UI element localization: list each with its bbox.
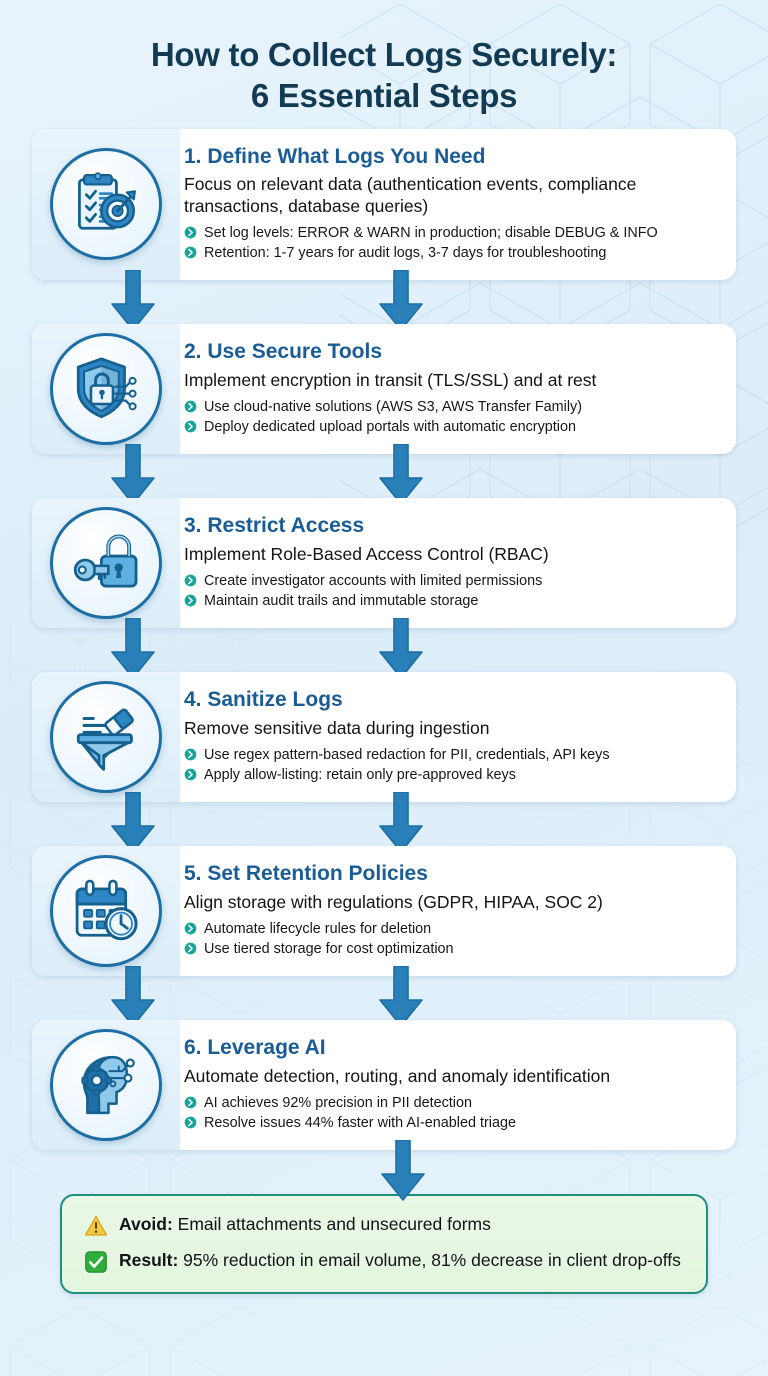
step-bullets: AI achieves 92% precision in PII detecti…: [184, 1093, 714, 1134]
step-text-container: 1. Define What Logs You Need Focus on re…: [180, 129, 736, 280]
warning-triangle-icon: [84, 1214, 108, 1238]
chevron-bullet-icon: [184, 400, 197, 413]
ai-head-gear-icon: [69, 1048, 143, 1122]
bullet-text: Retention: 1-7 years for audit logs, 3-7…: [204, 243, 606, 263]
funnel-eraser-icon: [69, 700, 143, 774]
chevron-bullet-icon: [184, 1116, 197, 1129]
clipboard-target-icon: [69, 167, 143, 241]
icon-badge: [50, 507, 162, 619]
step-icon-container: [32, 846, 180, 976]
avoid-body: Email attachments and unsecured forms: [173, 1214, 491, 1234]
page-title: How to Collect Logs Securely: 6 Essentia…: [40, 34, 728, 117]
shield-lock-circuit-icon: [69, 352, 143, 426]
calendar-clock-icon: [69, 874, 143, 948]
step-text-container: 3. Restrict Access Implement Role-Based …: [180, 498, 736, 628]
result-label: Result:: [119, 1250, 178, 1270]
step-bullets: Use cloud-native solutions (AWS S3, AWS …: [184, 397, 714, 438]
avoid-row: Avoid: Email attachments and unsecured f…: [84, 1213, 684, 1238]
key-padlock-icon: [69, 526, 143, 600]
bullet-text: Maintain audit trails and immutable stor…: [204, 591, 478, 611]
page-header: How to Collect Logs Securely: 6 Essentia…: [0, 0, 768, 129]
step-card[interactable]: 2. Use Secure Tools Implement encryption…: [32, 324, 736, 454]
step-title: 1. Define What Logs You Need: [184, 145, 714, 170]
step-connector: [32, 628, 736, 672]
icon-badge: [50, 1029, 162, 1141]
step-description: Align storage with regulations (GDPR, HI…: [184, 892, 714, 913]
checkmark-box-icon: [84, 1250, 108, 1274]
bullet-item: Create investigator accounts with limite…: [184, 571, 714, 591]
page-title-line-1: How to Collect Logs Securely:: [40, 34, 728, 75]
step-title: 3. Restrict Access: [184, 514, 714, 539]
step-icon-container: [32, 498, 180, 628]
bullet-item: Use regex pattern-based redaction for PI…: [184, 745, 714, 765]
step-icon-container: [32, 1020, 180, 1150]
avoid-label: Avoid:: [119, 1214, 173, 1234]
bullet-text: Automate lifecycle rules for deletion: [204, 919, 431, 939]
step-bullets: Use regex pattern-based redaction for PI…: [184, 745, 714, 786]
step-title: 4. Sanitize Logs: [184, 688, 714, 713]
step-bullets: Set log levels: ERROR & WARN in producti…: [184, 223, 714, 264]
step-text-container: 6. Leverage AI Automate detection, routi…: [180, 1020, 736, 1150]
chevron-bullet-icon: [184, 768, 197, 781]
step-title: 2. Use Secure Tools: [184, 340, 714, 365]
step-description: Remove sensitive data during ingestion: [184, 718, 714, 739]
step-description: Focus on relevant data (authentication e…: [184, 174, 714, 217]
chevron-bullet-icon: [184, 748, 197, 761]
icon-badge: [50, 681, 162, 793]
chevron-bullet-icon: [184, 246, 197, 259]
step-connector: [32, 454, 736, 498]
chevron-bullet-icon: [184, 922, 197, 935]
bullet-item: Use cloud-native solutions (AWS S3, AWS …: [184, 397, 714, 417]
step-card[interactable]: 6. Leverage AI Automate detection, routi…: [32, 1020, 736, 1150]
icon-badge: [50, 333, 162, 445]
step-bullets: Automate lifecycle rules for deletion Us…: [184, 919, 714, 960]
chevron-bullet-icon: [184, 574, 197, 587]
step-text-container: 2. Use Secure Tools Implement encryption…: [180, 324, 736, 454]
result-row: Result: 95% reduction in email volume, 8…: [84, 1249, 684, 1274]
step-icon-container: [32, 672, 180, 802]
step-card[interactable]: 1. Define What Logs You Need Focus on re…: [32, 129, 736, 280]
bullet-text: Resolve issues 44% faster with AI-enable…: [204, 1113, 516, 1133]
bullet-item: Use tiered storage for cost optimization: [184, 939, 714, 959]
bullet-text: Use cloud-native solutions (AWS S3, AWS …: [204, 397, 582, 417]
bullet-text: Set log levels: ERROR & WARN in producti…: [204, 223, 658, 243]
bullet-text: Deploy dedicated upload portals with aut…: [204, 417, 576, 437]
avoid-text: Avoid: Email attachments and unsecured f…: [119, 1213, 491, 1235]
step-connector: [32, 280, 736, 324]
step-text-container: 5. Set Retention Policies Align storage …: [180, 846, 736, 976]
step-connector: [32, 802, 736, 846]
bullet-item: Resolve issues 44% faster with AI-enable…: [184, 1113, 714, 1133]
chevron-bullet-icon: [184, 942, 197, 955]
step-title: 5. Set Retention Policies: [184, 862, 714, 887]
steps-list: 1. Define What Logs You Need Focus on re…: [0, 129, 768, 1194]
bullet-item: AI achieves 92% precision in PII detecti…: [184, 1093, 714, 1113]
step-title: 6. Leverage AI: [184, 1036, 714, 1061]
step-text-container: 4. Sanitize Logs Remove sensitive data d…: [180, 672, 736, 802]
footer-container: Avoid: Email attachments and unsecured f…: [0, 1194, 768, 1294]
step-connector: [32, 976, 736, 1020]
chevron-bullet-icon: [184, 594, 197, 607]
step-card[interactable]: 4. Sanitize Logs Remove sensitive data d…: [32, 672, 736, 802]
bullet-text: Use tiered storage for cost optimization: [204, 939, 454, 959]
bullet-text: Create investigator accounts with limite…: [204, 571, 542, 591]
step-description: Implement Role-Based Access Control (RBA…: [184, 544, 714, 565]
result-text: Result: 95% reduction in email volume, 8…: [119, 1249, 681, 1271]
icon-badge: [50, 148, 162, 260]
page-title-line-2: 6 Essential Steps: [40, 75, 728, 116]
step-description: Implement encryption in transit (TLS/SSL…: [184, 370, 714, 391]
summary-box: Avoid: Email attachments and unsecured f…: [60, 1194, 708, 1294]
step-card[interactable]: 3. Restrict Access Implement Role-Based …: [32, 498, 736, 628]
bullet-item: Automate lifecycle rules for deletion: [184, 919, 714, 939]
bullet-text: AI achieves 92% precision in PII detecti…: [204, 1093, 472, 1113]
chevron-bullet-icon: [184, 420, 197, 433]
step-icon-container: [32, 324, 180, 454]
bullet-item: Maintain audit trails and immutable stor…: [184, 591, 714, 611]
bullet-text: Apply allow-listing: retain only pre-app…: [204, 765, 516, 785]
step-connector-final: [32, 1150, 736, 1194]
chevron-bullet-icon: [184, 226, 197, 239]
icon-badge: [50, 855, 162, 967]
bullet-item: Set log levels: ERROR & WARN in producti…: [184, 223, 714, 243]
step-description: Automate detection, routing, and anomaly…: [184, 1066, 714, 1087]
bullet-text: Use regex pattern-based redaction for PI…: [204, 745, 610, 765]
bullet-item: Deploy dedicated upload portals with aut…: [184, 417, 714, 437]
result-body: 95% reduction in email volume, 81% decre…: [178, 1250, 681, 1270]
step-card[interactable]: 5. Set Retention Policies Align storage …: [32, 846, 736, 976]
bullet-item: Apply allow-listing: retain only pre-app…: [184, 765, 714, 785]
bullet-item: Retention: 1-7 years for audit logs, 3-7…: [184, 243, 714, 263]
step-bullets: Create investigator accounts with limite…: [184, 571, 714, 612]
step-icon-container: [32, 129, 180, 280]
infographic-page: How to Collect Logs Securely: 6 Essentia…: [0, 0, 768, 1376]
chevron-bullet-icon: [184, 1096, 197, 1109]
